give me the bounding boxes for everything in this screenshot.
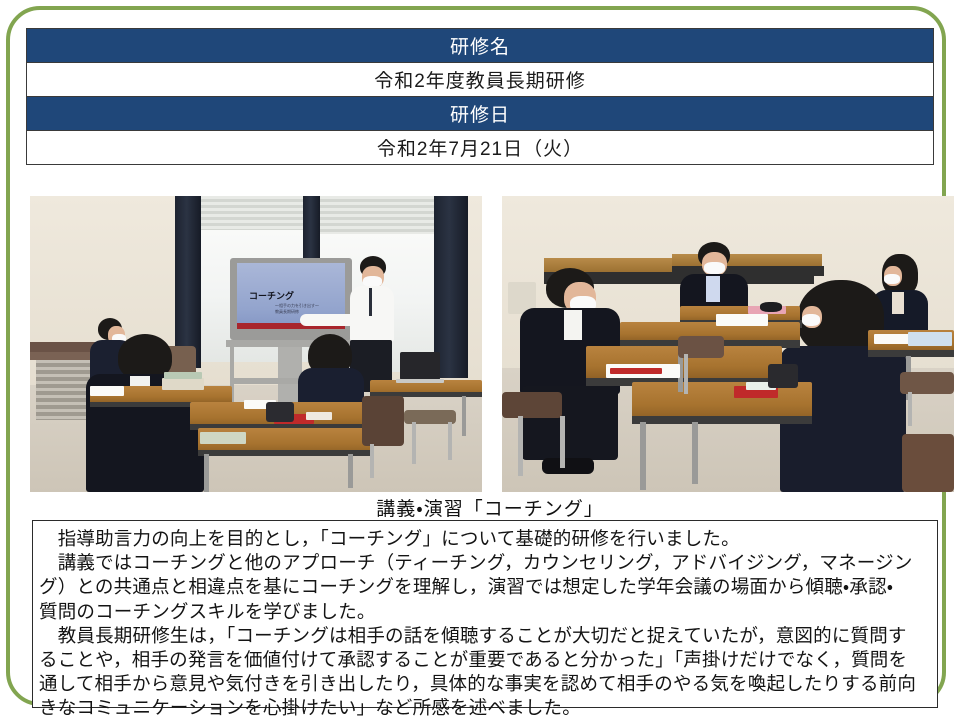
desk-front-leg-left: [640, 422, 646, 490]
side-desk-leg-right: [462, 396, 466, 436]
chair-right: [362, 396, 404, 446]
desk-front-leg-mid: [692, 422, 698, 484]
desk-front-leg-left: [204, 454, 209, 492]
bag-on-desk: [266, 402, 294, 422]
chair-rear-leg: [684, 354, 688, 394]
participant-rear-shirt: [706, 276, 720, 302]
body-line: 質問のコーチングスキルを学びました。: [39, 600, 931, 624]
training-name-value: 令和2年度教員長期研修: [27, 63, 934, 97]
photo-group-work-scene: [502, 196, 954, 492]
paper-small: [306, 412, 332, 420]
desk-right-edge: [868, 350, 954, 357]
laptop-base: [396, 379, 444, 383]
folded-table-top-2: [672, 254, 822, 266]
binder-front: [200, 432, 246, 444]
presenter-shirt: [350, 286, 394, 342]
window-blind-left: [198, 196, 316, 230]
summary-text-box: 指導助言力の向上を目的とし，「コーチング」について基礎的研修を行いました。 講義…: [32, 520, 938, 708]
slide-subtitle-line2: 教員長期研修: [275, 309, 299, 315]
paper-rear: [716, 314, 768, 326]
chair-left: [502, 392, 562, 418]
chair-front-right: [902, 434, 954, 492]
page-frame: 研修名 令和2年度教員長期研修 研修日 令和2年7月21日（火）: [6, 6, 946, 706]
binder-stack: [162, 378, 204, 390]
table-row: 令和2年度教員長期研修: [27, 63, 934, 97]
binder-right: [908, 332, 952, 346]
curtain-right: [434, 196, 468, 378]
presenter-arm: [300, 314, 358, 326]
participant-far-right-collar: [892, 292, 904, 314]
photo-lecture-scene: コーチング 〜相手の力を引き出す〜 教員長期研修: [30, 196, 482, 492]
chair-right-leg: [908, 392, 912, 426]
training-info-table: 研修名 令和2年度教員長期研修 研修日 令和2年7月21日（火）: [26, 28, 934, 165]
desk-front-leg-right: [348, 454, 353, 488]
body-line: グ）との共通点と相違点を基にコーチングを理解し，演習では想定した学年会議の場面か…: [39, 575, 931, 599]
presenter-lanyard: [369, 288, 372, 316]
desk-front-edge: [198, 450, 370, 456]
participant-rear-mask: [704, 262, 725, 274]
training-date-header: 研修日: [27, 97, 934, 131]
body-line: きなコミュニケーションを心掛けたい」など所感を述べました。: [39, 696, 931, 720]
body-line: 通して相手から意見や気付きを引き出したり，具体的な事実を認めて相手のやる気を喚起…: [39, 672, 931, 696]
table-row: 研修名: [27, 29, 934, 63]
participant-left-shoe: [542, 458, 594, 474]
body-line: 指導助言力の向上を目的とし，「コーチング」について基礎的研修を行いました。: [39, 527, 931, 551]
training-date-value: 令和2年7月21日（火）: [27, 131, 934, 165]
participant-far-right-mask: [884, 274, 900, 284]
table-row: 令和2年7月21日（火）: [27, 131, 934, 165]
red-marking: [610, 368, 662, 374]
participant-front-mask: [802, 314, 820, 326]
slide-title: コーチング: [249, 289, 294, 302]
chair-right-leg: [370, 444, 374, 478]
table-row: 研修日: [27, 97, 934, 131]
body-line: 教員長期研修生は，「コーチングは相手の話を傾聴することが大切だと捉えていたが，意…: [39, 624, 931, 648]
chair-far-right-leg: [412, 422, 416, 464]
participant-left-shirt: [564, 310, 582, 340]
photo-caption: 講義・演習「コーチング」: [10, 494, 960, 521]
desk-front-edge: [632, 416, 812, 424]
training-name-header: 研修名: [27, 29, 934, 63]
laptop-screen: [400, 352, 440, 380]
chair-far-right-leg-2: [448, 422, 452, 460]
beret-item: [760, 302, 782, 312]
chair-left-leg: [518, 416, 523, 476]
paper-left: [90, 386, 124, 396]
curtain-left: [175, 196, 201, 368]
chair-right: [900, 372, 954, 394]
chair-left-leg-2: [560, 416, 565, 468]
binder-green: [164, 372, 202, 379]
bag-on-desk: [768, 364, 798, 388]
photo-row: コーチング 〜相手の力を引き出す〜 教員長期研修: [30, 196, 954, 492]
body-line: ることや，相手の発言を価値付けて承認することが重要であると分かった」「声掛けだけ…: [39, 648, 931, 672]
body-line: 講義ではコーチングと他のアプローチ（ティーチング，カウンセリング，アドバイジング…: [39, 551, 931, 575]
